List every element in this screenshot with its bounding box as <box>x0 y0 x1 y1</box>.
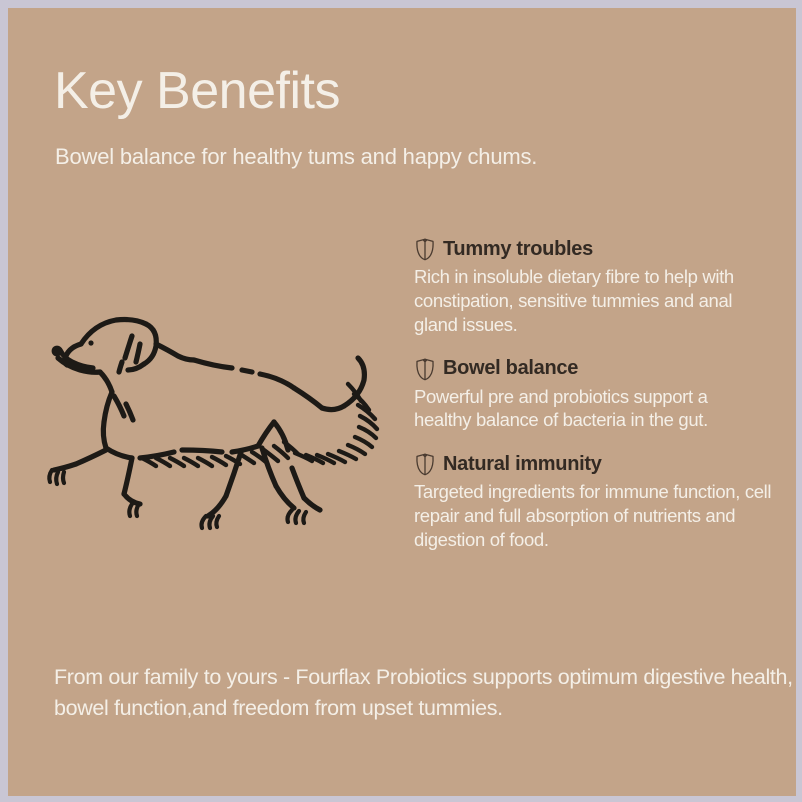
benefit-title: Tummy troubles <box>443 238 593 261</box>
benefit-heading-row: Bowel balance <box>414 356 794 382</box>
benefit-title: Bowel balance <box>443 357 578 380</box>
footer-statement: From our family to yours - Fourflax Prob… <box>54 662 794 723</box>
benefit-description: Powerful pre and probiotics support a he… <box>414 385 762 433</box>
key-benefits-card: Key Benefits Bowel balance for healthy t… <box>0 0 802 802</box>
benefit-item: Bowel balance Powerful pre and probiotic… <box>414 356 794 433</box>
shield-icon <box>414 237 436 261</box>
benefit-item: Tummy troubles Rich in insoluble dietary… <box>414 236 794 337</box>
benefit-title: Natural immunity <box>443 453 602 476</box>
benefit-description: Rich in insoluble dietary fibre to help … <box>414 265 766 337</box>
benefit-item: Natural immunity Targeted ingredients fo… <box>414 451 794 552</box>
benefit-heading-row: Natural immunity <box>414 451 794 477</box>
benefits-list: Tummy troubles Rich in insoluble dietary… <box>414 236 794 571</box>
shield-icon <box>414 357 436 381</box>
benefit-heading-row: Tummy troubles <box>414 236 794 262</box>
shield-icon <box>414 452 436 476</box>
page-subtitle: Bowel balance for healthy tums and happy… <box>55 144 537 170</box>
dog-line-art-illustration <box>36 300 428 548</box>
card-surface: Key Benefits Bowel balance for healthy t… <box>8 8 796 796</box>
benefit-description: Targeted ingredients for immune function… <box>414 480 786 552</box>
page-title: Key Benefits <box>54 64 340 119</box>
